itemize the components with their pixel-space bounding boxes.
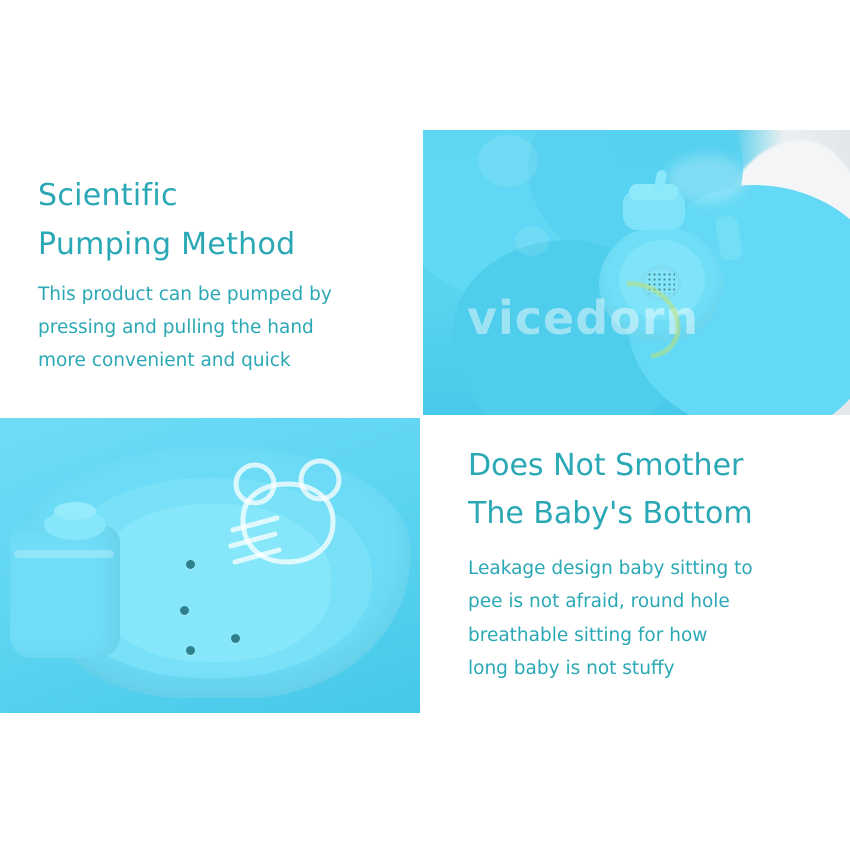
breathable-hole xyxy=(180,606,189,615)
top-body-line-3: more convenient and quick xyxy=(38,345,420,378)
bottom-body-line-1: Leakage design baby sitting to xyxy=(468,552,850,585)
breathable-hole xyxy=(231,634,240,643)
top-body-line-1: This product can be pumped by xyxy=(38,279,420,312)
bottom-heading-line-2: The Baby's Bottom xyxy=(468,490,850,538)
top-heading-line-1: Scientific xyxy=(38,172,420,221)
bottom-right-text-panel: Does Not Smother The Baby's Bottom Leaka… xyxy=(423,418,850,713)
product-infographic-page: Scientific Pumping Method This product c… xyxy=(0,0,850,850)
water-tank xyxy=(10,526,120,658)
top-left-text-panel: Scientific Pumping Method This product c… xyxy=(0,130,420,415)
bottom-body-text: Leakage design baby sitting to pee is no… xyxy=(468,538,850,685)
bottom-body-line-2: pee is not afraid, round hole xyxy=(468,585,850,618)
bottom-body-line-4: long baby is not stuffy xyxy=(468,652,850,685)
breathable-hole xyxy=(186,560,195,569)
surface-dimple-1 xyxy=(478,135,538,187)
top-body-line-2: pressing and pulling the hand xyxy=(38,312,420,345)
top-body-text: This product can be pumped by pressing a… xyxy=(38,269,420,378)
breathable-hole xyxy=(186,646,195,655)
vent-mesh-holes xyxy=(647,272,675,294)
bottom-body-line-3: breathable sitting for how xyxy=(468,619,850,652)
potty-seat-photo xyxy=(0,418,420,713)
pump-valve-photo: vicedorn xyxy=(423,130,850,415)
bottom-heading-line-1: Does Not Smother xyxy=(468,442,850,490)
surface-dimple-2 xyxy=(515,226,549,256)
bear-face-emboss-icon xyxy=(225,458,355,580)
top-heading-line-2: Pumping Method xyxy=(38,221,420,270)
tank-seam-line xyxy=(14,550,114,558)
top-heading: Scientific Pumping Method xyxy=(38,130,420,269)
bottom-heading: Does Not Smother The Baby's Bottom xyxy=(468,418,850,538)
tank-cap-top xyxy=(54,502,96,520)
